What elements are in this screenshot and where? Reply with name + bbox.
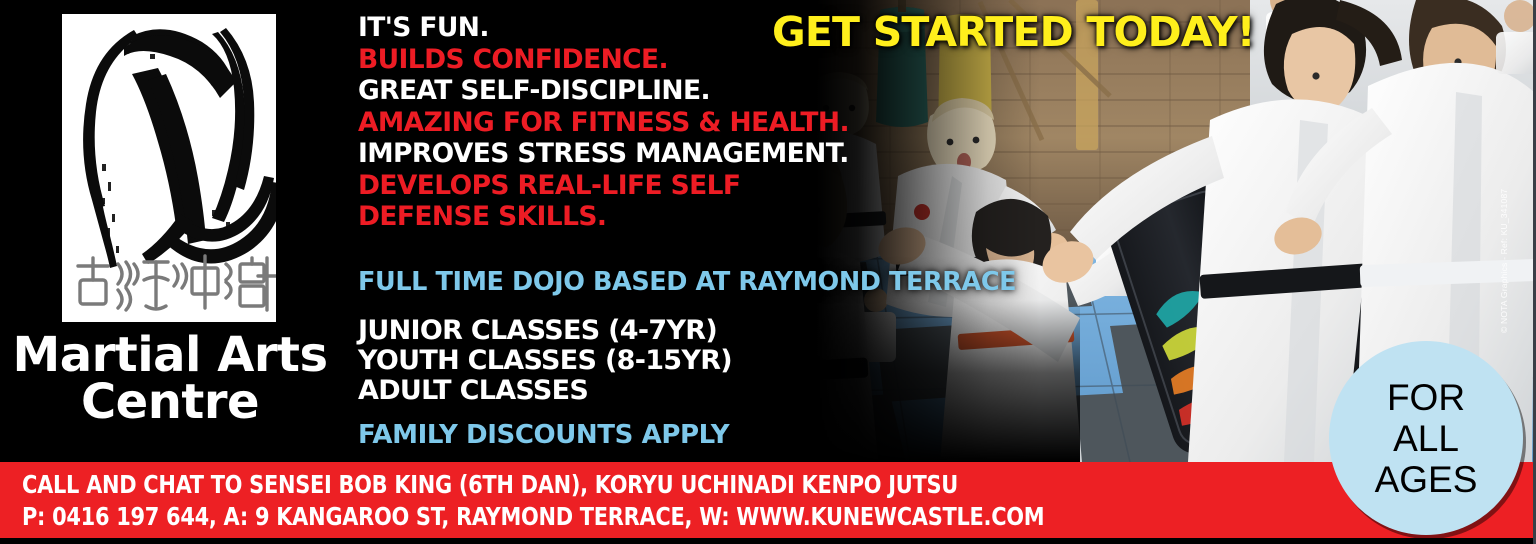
class-adult: ADULT CLASSES <box>358 376 732 406</box>
brand-name: Martial Arts Centre <box>0 332 340 426</box>
bottom-black-strip <box>0 538 1536 544</box>
contact-banner: CALL AND CHAT TO SENSEI BOB KING (6TH DA… <box>0 462 1536 538</box>
badge-line-3: AGES <box>1375 459 1478 500</box>
badge-line-2: ALL <box>1393 418 1459 459</box>
copyright-credit: © NOTA Graphics - Ref: KU_341087 <box>1499 193 1509 333</box>
family-discount-line: FAMILY DISCOUNTS APPLY <box>358 420 729 450</box>
contact-line-1: CALL AND CHAT TO SENSEI BOB KING (6TH DA… <box>22 470 958 499</box>
logo <box>62 14 276 322</box>
contact-line-2: P: 0416 197 644, A: 9 KANGAROO ST, RAYMO… <box>22 502 1044 531</box>
benefit-line-4: AMAZING FOR FITNESS & HEALTH. <box>358 107 958 139</box>
for-all-ages-badge: FOR ALL AGES <box>1329 341 1523 535</box>
benefit-line-6: DEVELOPS REAL-LIFE SELF <box>358 170 958 202</box>
benefit-line-7: DEFENSE SKILLS. <box>358 201 958 233</box>
headline-get-started: GET STARTED TODAY! <box>772 8 1255 56</box>
benefit-line-3: GREAT SELF-DISCIPLINE. <box>358 75 958 107</box>
class-youth: YOUTH CLASSES (8-15YR) <box>358 346 732 376</box>
badge-line-1: FOR <box>1387 377 1465 418</box>
brand-name-line1: Martial Arts <box>0 332 340 379</box>
class-types-list: JUNIOR CLASSES (4-7YR) YOUTH CLASSES (8-… <box>358 316 732 406</box>
brand-name-line2: Centre <box>0 379 340 426</box>
dojo-location-line: FULL TIME DOJO BASED AT RAYMOND TERRACE <box>358 267 1016 297</box>
class-junior: JUNIOR CLASSES (4-7YR) <box>358 316 732 346</box>
advertisement-banner: Martial Arts Centre IT'S FUN. BUILDS CON… <box>0 0 1536 544</box>
benefit-line-5: IMPROVES STRESS MANAGEMENT. <box>358 138 958 170</box>
